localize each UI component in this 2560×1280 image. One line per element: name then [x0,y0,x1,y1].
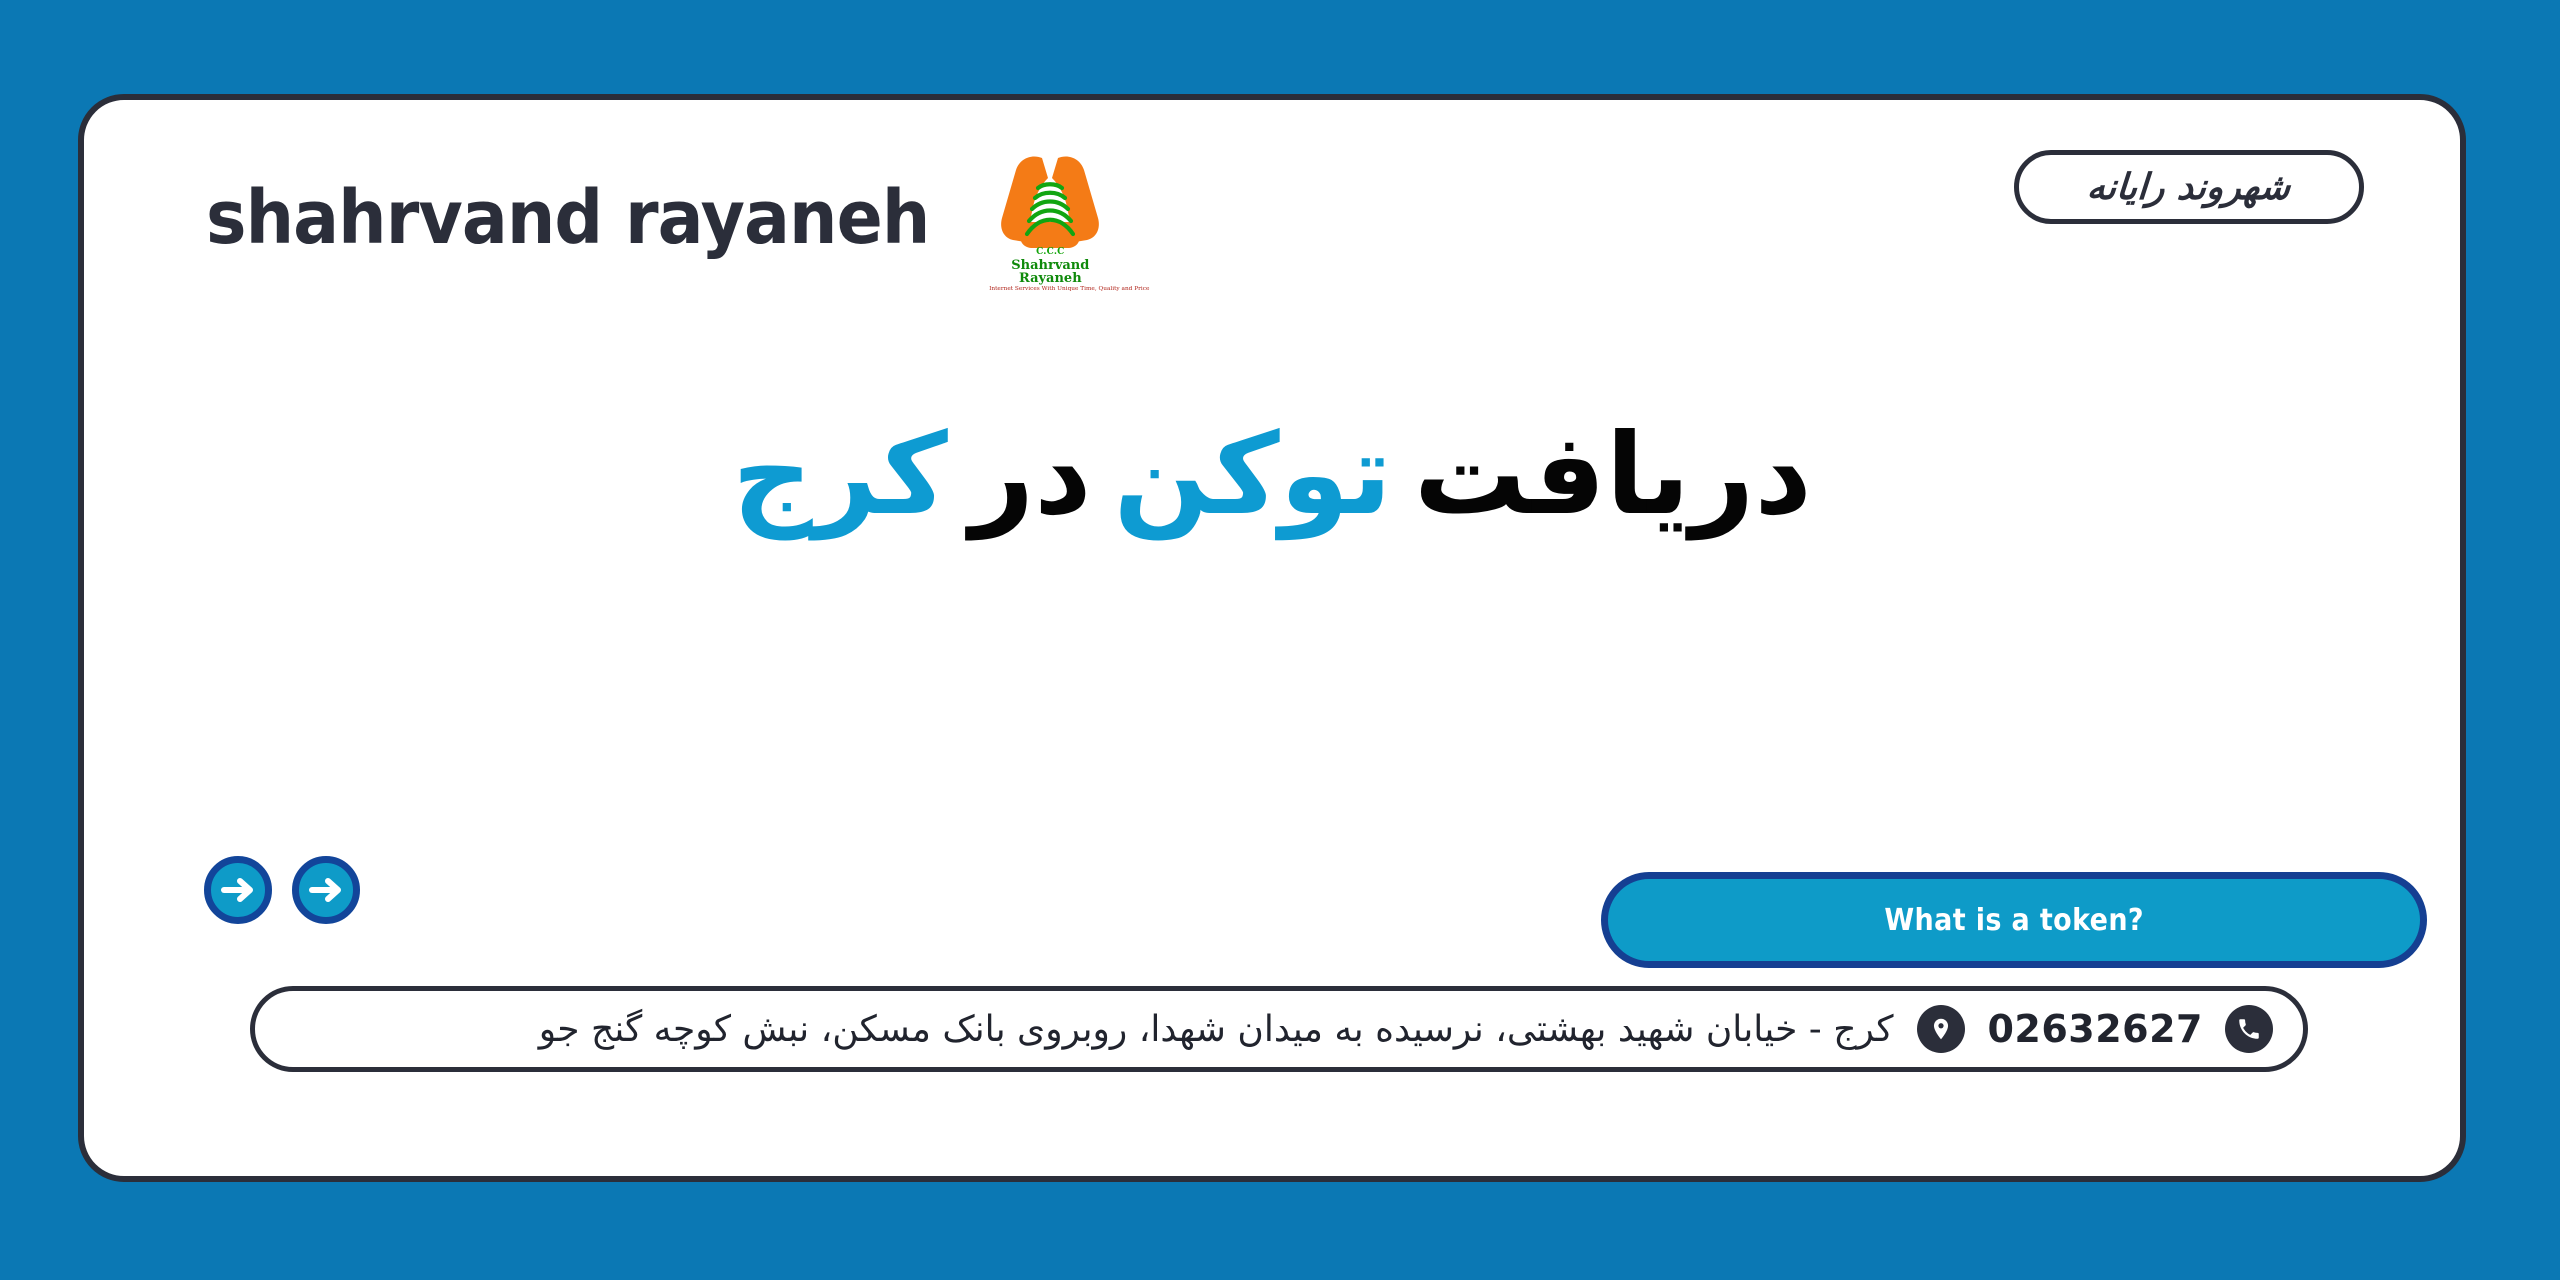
main-card: C.C.C Shahrvand Rayaneh Internet Service… [78,94,2466,1182]
what-is-a-token-button[interactable]: What is a token? [1601,872,2427,968]
headline-word-4: کرج [732,410,948,540]
address-text: کرج - خیابان شهید بهشتی، نرسیده به میدان… [539,1009,1894,1050]
logo-sub-line2: Shahrvand Rayaneh [992,259,1108,285]
arrow-button-group [204,856,360,924]
contact-bar: 02632627 کرج - خیابان شهید بهشتی، نرسیده… [250,986,2308,1072]
headline-word-3: در [970,410,1092,540]
next-button-1[interactable] [204,856,272,924]
headline-word-1: دریافت [1414,410,1812,540]
logo-sub-line1: C.C.C [992,248,1108,257]
brand-wordmark: shahrvand rayaneh [206,181,929,255]
cta-button-label: What is a token? [1884,903,2144,938]
arrow-right-icon [221,877,255,903]
arrow-right-icon [309,877,343,903]
header: C.C.C Shahrvand Rayaneh Internet Service… [84,100,2460,310]
logo-sub-line3: Internet Services With Unique Time, Qual… [989,287,1111,293]
phone-number[interactable]: 02632627 [1987,1007,2203,1051]
phone-icon[interactable] [2225,1005,2273,1053]
brand-pill-label: شهروند رایانه [2086,167,2292,208]
page-title: دریافتتوکندرکرج [84,400,2460,551]
location-pin-icon[interactable] [1917,1005,1965,1053]
shahrvand-rayaneh-logo-mark: C.C.C Shahrvand Rayaneh Internet Service… [992,152,1108,284]
headline-word-2: توکن [1114,410,1392,540]
logo-subtext: C.C.C Shahrvand Rayaneh Internet Service… [992,248,1108,293]
brand-logo-lockup[interactable]: C.C.C Shahrvand Rayaneh Internet Service… [180,152,1108,284]
next-button-2[interactable] [292,856,360,924]
brand-pill-badge[interactable]: شهروند رایانه [2014,150,2364,224]
